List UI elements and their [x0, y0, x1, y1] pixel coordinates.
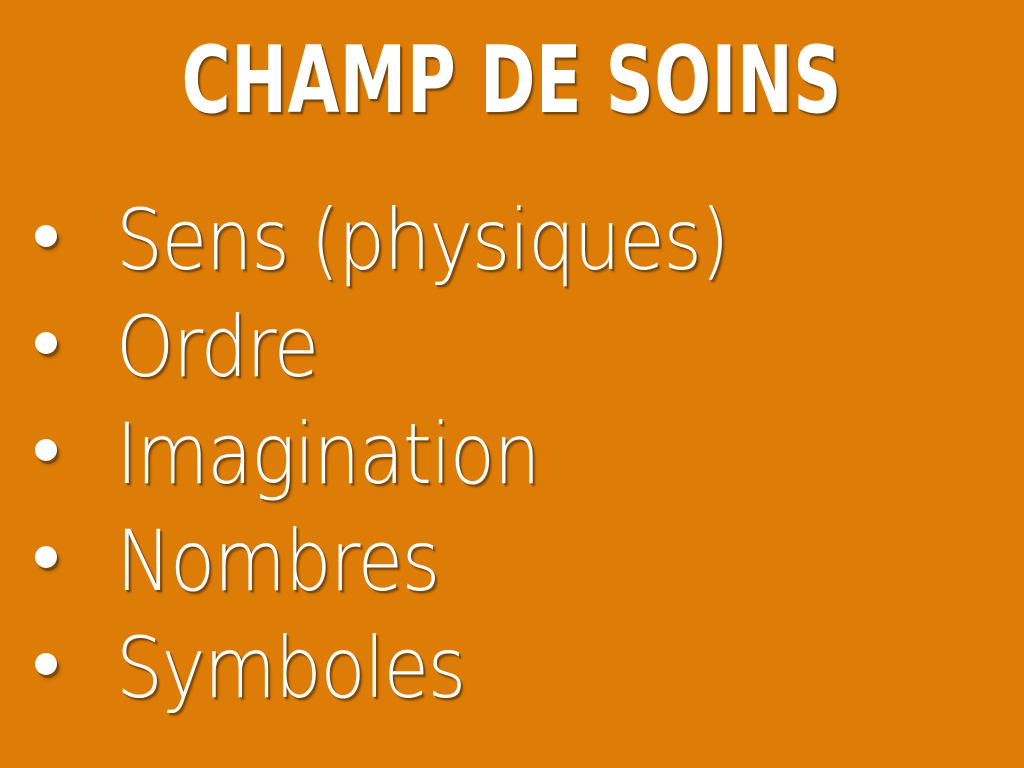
list-item: Sens (physiques)	[0, 192, 1024, 299]
bullet-list: Sens (physiques) Ordre Imagination Nombr…	[0, 192, 1024, 727]
bullet-dot-icon	[35, 332, 57, 354]
list-item-label: Ordre	[116, 299, 318, 395]
list-item-label: Imagination	[116, 406, 539, 502]
bullet-dot-icon	[35, 439, 57, 461]
list-item: Nombres	[0, 513, 1024, 620]
page-title: CHAMP DE SOINS	[182, 34, 842, 127]
list-item-label: Sens (physiques)	[116, 192, 728, 288]
presentation-slide: CHAMP DE SOINS Sens (physiques) Ordre Im…	[0, 0, 1024, 768]
list-item-label: Nombres	[116, 513, 439, 609]
bullet-dot-icon	[35, 225, 57, 247]
list-item: Imagination	[0, 406, 1024, 513]
bullet-dot-icon	[35, 546, 57, 568]
list-item: Ordre	[0, 299, 1024, 406]
list-item: Symboles	[0, 620, 1024, 727]
bullet-dot-icon	[35, 653, 57, 675]
list-item-label: Symboles	[116, 620, 465, 716]
slide-title-container: CHAMP DE SOINS	[0, 34, 1024, 127]
